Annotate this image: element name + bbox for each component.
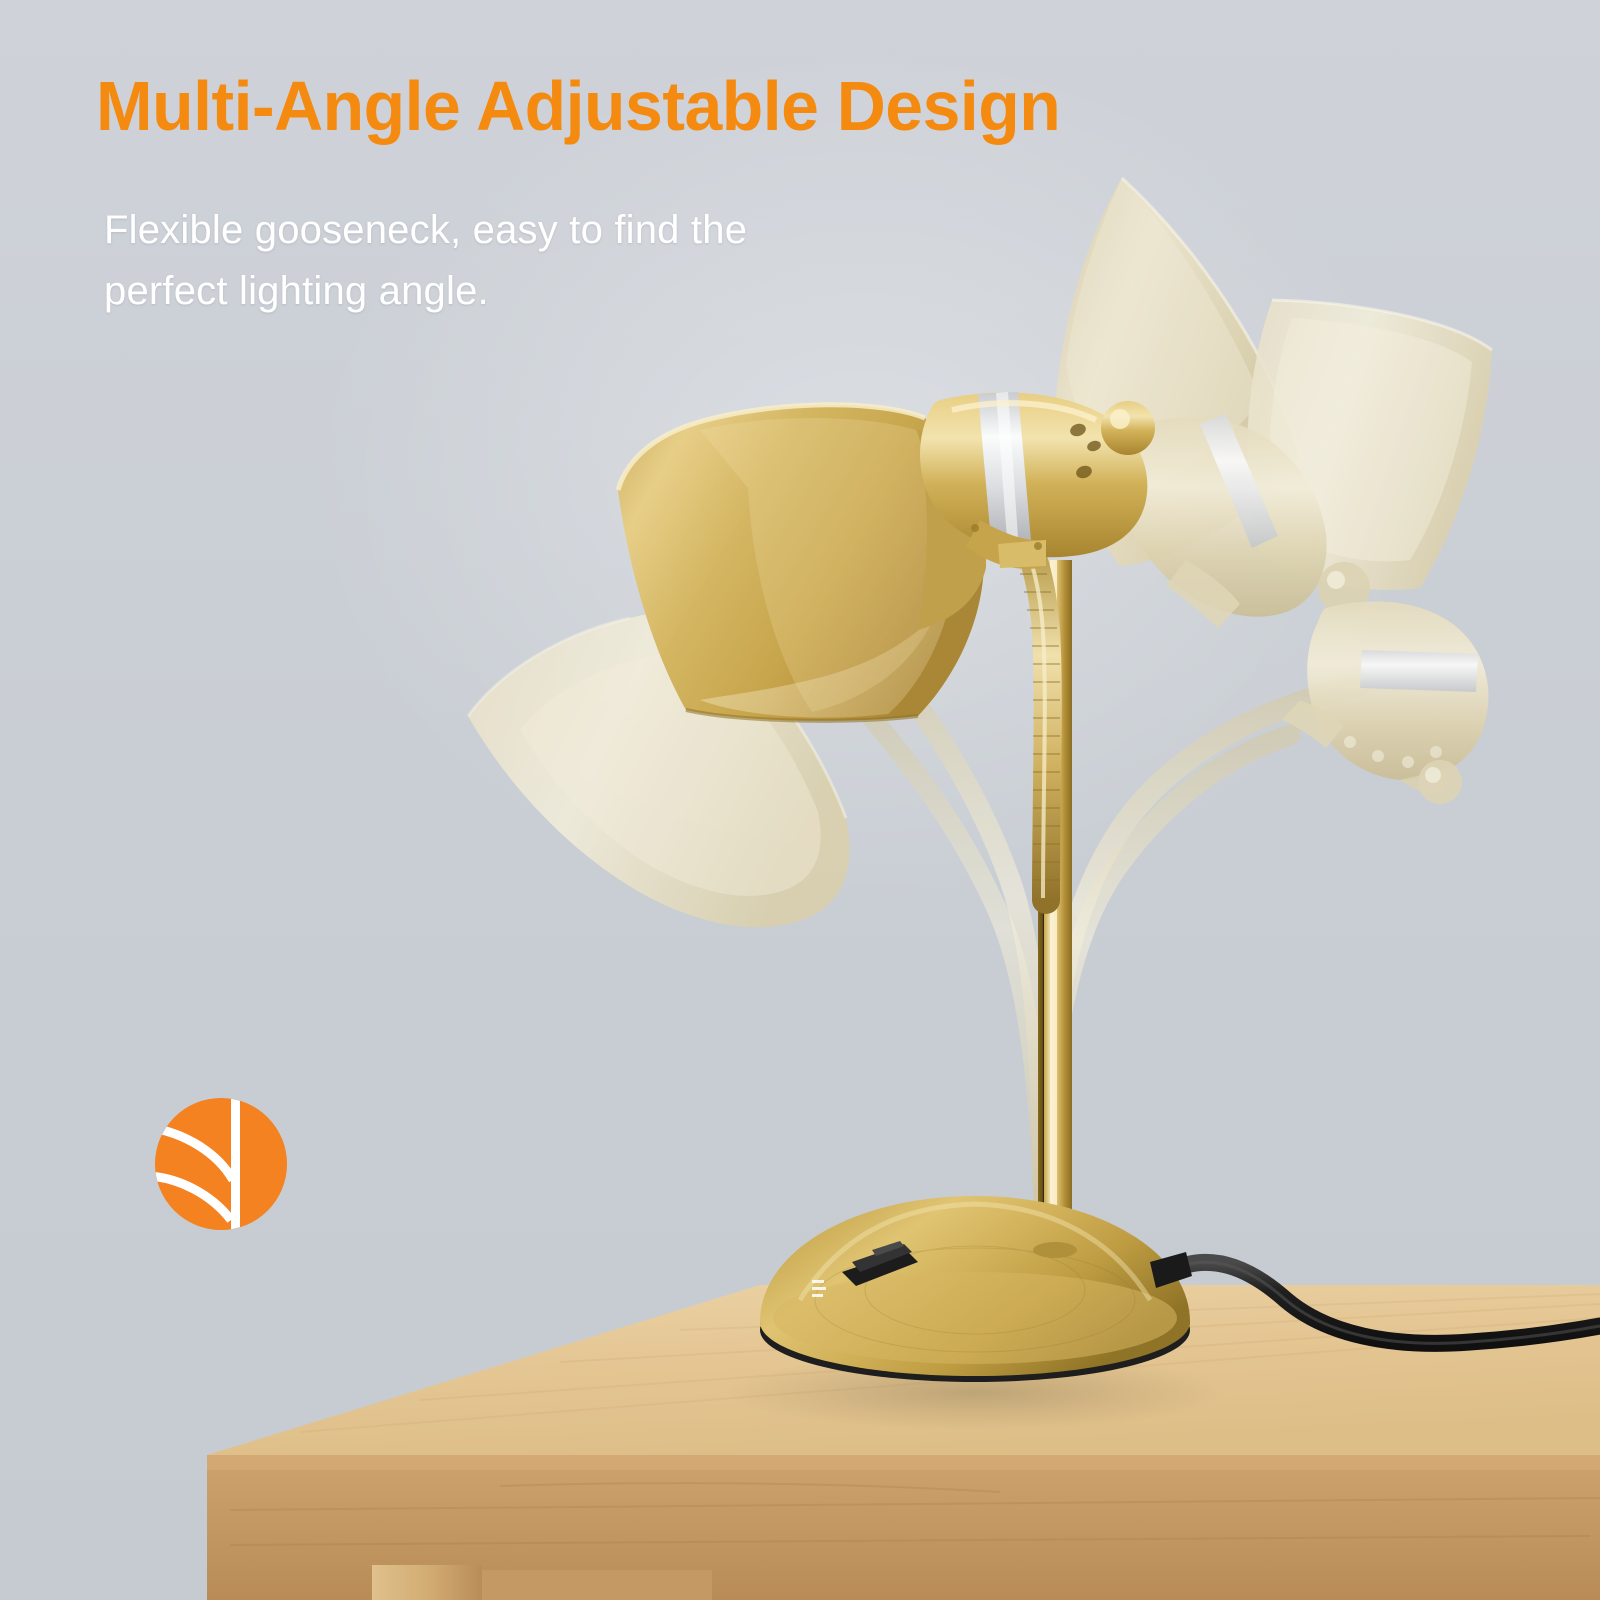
brand-logo bbox=[155, 1098, 287, 1230]
subtitle-line-2: perfect lighting angle. bbox=[104, 261, 747, 322]
ghost-head-lower bbox=[1307, 601, 1488, 804]
ghost-lamp-positions bbox=[468, 178, 1492, 1245]
lamp-base bbox=[760, 1196, 1190, 1382]
product-scene: Multi-Angle Adjustable Design Flexible g… bbox=[0, 0, 1600, 1600]
page-title: Multi-Angle Adjustable Design bbox=[96, 66, 1060, 146]
ghost-gooseneck-arcs bbox=[872, 660, 1360, 1245]
leaf-branch-icon bbox=[155, 1098, 287, 1230]
subtitle: Flexible gooseneck, easy to find the per… bbox=[104, 200, 747, 322]
subtitle-line-1: Flexible gooseneck, easy to find the bbox=[104, 200, 747, 261]
